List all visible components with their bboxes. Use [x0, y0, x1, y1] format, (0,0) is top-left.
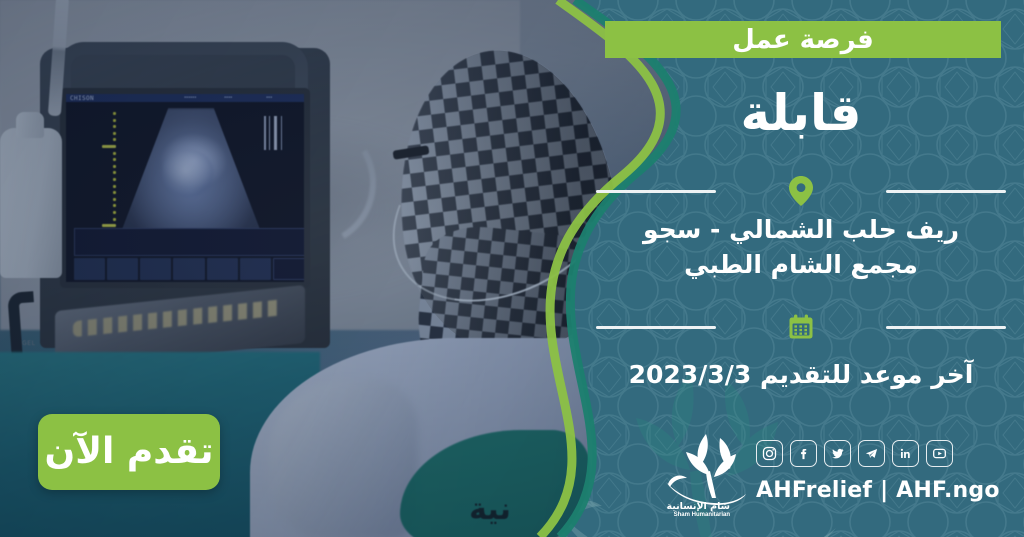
opportunity-badge-label: فرصة عمل [732, 27, 874, 53]
job-title: قابلة [596, 88, 1006, 138]
divider-line-right-2 [596, 326, 716, 329]
social-handles: AHFrelief | AHF.ngo [756, 478, 1000, 503]
org-logo: شام الإنسانية Sham Humanitarian [662, 428, 748, 516]
panel-content: فرصة عمل قابلة ريف حلب الشمالي - سجو مجم… [596, 0, 1006, 537]
job-poster: CHISON ▪▪▪▪▪▪ ▪▪▪▪ ▪▪▪ GEL [0, 0, 1024, 537]
map-pin-icon [788, 175, 814, 207]
deadline-text: آخر موعد للتقديم 2023/3/3 [596, 362, 1006, 387]
org-name-arabic: شام الإنسانية [666, 501, 730, 512]
linkedin-icon[interactable] [892, 440, 919, 467]
opportunity-badge: فرصة عمل [605, 21, 1001, 58]
calendar-icon [787, 313, 815, 341]
facebook-icon[interactable] [790, 440, 817, 467]
apply-now-button[interactable]: تقدم الآن [38, 414, 220, 490]
location-line-1: ريف حلب الشمالي - سجو [596, 213, 1006, 248]
footer: شام الإنسانية Sham Humanitarian [656, 428, 1006, 520]
location-divider-row [596, 176, 1006, 206]
telegram-icon[interactable] [858, 440, 885, 467]
location-line-2: مجمع الشام الطبي [596, 248, 1006, 283]
divider-line-left [886, 190, 1006, 193]
divider-line-left-2 [886, 326, 1006, 329]
twitter-icon[interactable] [824, 440, 851, 467]
org-name-english: Sham Humanitarian [674, 512, 731, 516]
divider-line-right [596, 190, 716, 193]
location-text: ريف حلب الشمالي - سجو مجمع الشام الطبي [596, 213, 1006, 282]
youtube-icon[interactable] [926, 440, 953, 467]
apply-now-label: تقدم الآن [45, 434, 214, 470]
instagram-icon[interactable] [756, 440, 783, 467]
social-links[interactable] [756, 440, 953, 467]
deadline-divider-row [596, 312, 1006, 342]
